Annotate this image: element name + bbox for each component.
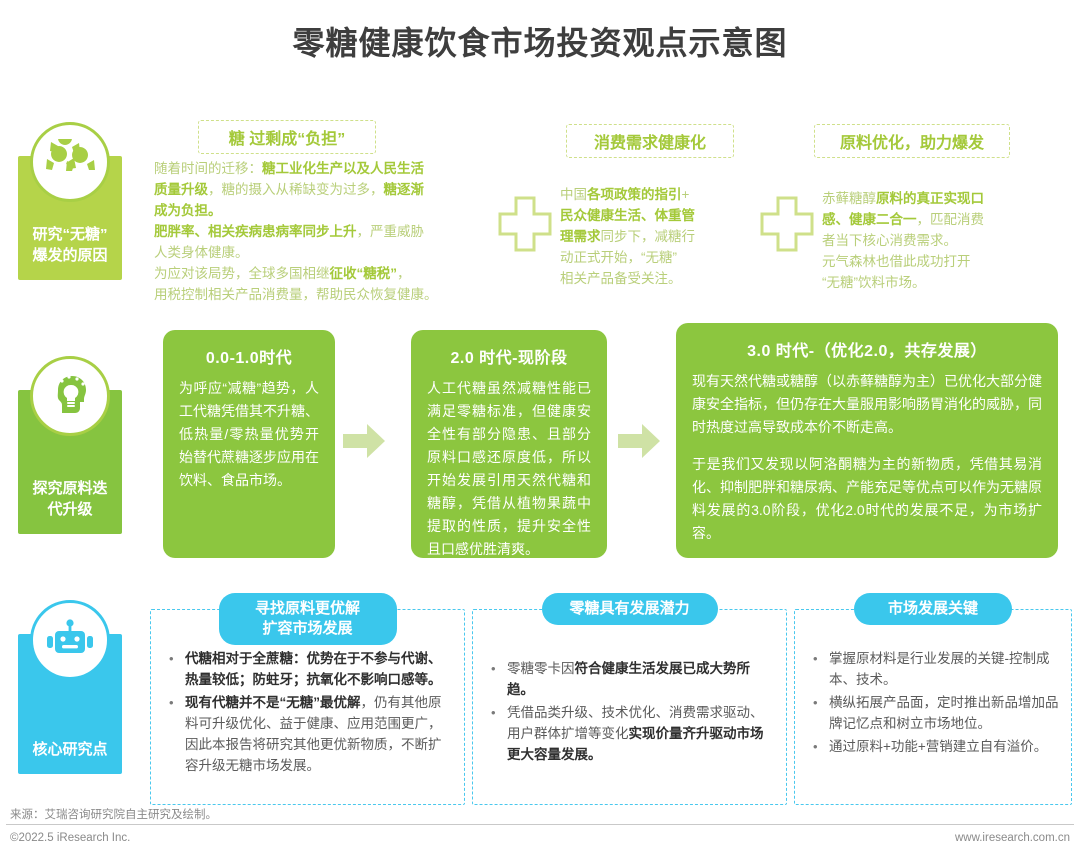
core-point-chip-3: 市场发展关键: [854, 593, 1012, 625]
body-text: ，严重威胁: [357, 224, 425, 239]
row1-chip-sugar-burden: 糖 过剩成“负担”: [198, 120, 376, 154]
bullet-dot-icon: •: [165, 692, 185, 776]
row-label-text: 研究“无糖” 爆发的原因: [32, 224, 107, 266]
emphasis-text: 糖工业化生产以及人民生活: [262, 161, 424, 176]
body-text: 随着时间的迁移：: [154, 161, 262, 176]
core-point-box-3: 市场发展关键 •掌握原材料是行业发展的关键-控制成本、技术。•横纵拓展产品面，定…: [794, 609, 1072, 805]
core-point-chip-2: 零糖具有发展潜力: [542, 593, 718, 625]
stage-card-text-1: 现有天然代糖或糖醇（以赤藓糖醇为主）已优化大部分健康安全指标，但仍存在大量服用影…: [692, 370, 1042, 439]
list-item-text: 横纵拓展产品面，定时推出新品增加品牌记忆点和树立市场地位。: [829, 692, 1059, 734]
stage-card-3: 3.0 时代-（优化2.0，共存发展） 现有天然代糖或糖醇（以赤藓糖醇为主）已优…: [676, 323, 1058, 558]
row1-line: 肥胖率、相关疾病患病率同步上升，严重威胁: [154, 221, 526, 242]
list-item: •现有代糖并不是“无糖”最优解，仍有其他原料可升级优化、益于健康、应用范围更广，…: [165, 692, 452, 776]
row1-line: 动正式开始，“无糖”: [560, 247, 756, 268]
body-text: 元气森林也借此成功打开: [822, 254, 971, 269]
row-label-core-research: 核心研究点: [18, 634, 122, 774]
stage-card-text: 人工代糖虽然减糖性能已满足零糖标准，但健康安全性有部分隐患、且部分原料口感还原度…: [427, 377, 591, 561]
emphasis-text: 各项政策的指引: [587, 187, 682, 202]
arrow-right-icon: [618, 424, 660, 458]
infographic-page: 零糖健康饮食市场投资观点示意图 研究“无糖” 爆发的原因 糖 过剩成“负担”: [0, 0, 1080, 856]
bullet-dot-icon: •: [487, 702, 507, 765]
list-item: •掌握原材料是行业发展的关键-控制成本、技术。: [809, 648, 1059, 690]
body-text: ，糖的摄入从稀缺变为过多，: [208, 182, 384, 197]
stage-card-text: 为呼应“减糖”趋势，人工代糖凭借其不升糖、低热量/零热量优势开始替代蔗糖逐步应用…: [179, 377, 319, 492]
row1-line: 为应对该局势，全球多国相继征收“糖税”，: [154, 263, 526, 284]
row1-line: 理需求同步下，减糖行: [560, 226, 756, 247]
row1-body-sugar-burden: 随着时间的迁移：糖工业化生产以及人民生活质量升级，糖的摄入从稀缺变为过多，糖逐渐…: [154, 158, 526, 305]
stage-card-2: 2.0 时代-现阶段 人工代糖虽然减糖性能已满足零糖标准，但健康安全性有部分隐患…: [411, 330, 607, 558]
page-title: 零糖健康饮食市场投资观点示意图: [0, 18, 1080, 64]
robot-icon: [30, 600, 110, 680]
row1-line: 相关产品备受关注。: [560, 268, 756, 289]
source-note: 来源：艾瑞咨询研究院自主研究及绘制。: [10, 806, 217, 822]
emphasis-text: 肥胖率、相关疾病患病率同步上升: [154, 224, 357, 239]
list-item: •通过原料+功能+营销建立自有溢价。: [809, 736, 1059, 757]
list-item: •横纵拓展产品面，定时推出新品增加品牌记忆点和树立市场地位。: [809, 692, 1059, 734]
body-text: 动正式开始，“无糖”: [560, 250, 677, 265]
emphasis-text: 理需求: [560, 229, 601, 244]
stage-card-title: 0.0-1.0时代: [179, 344, 319, 368]
row1-line: 元气森林也借此成功打开: [822, 251, 1036, 272]
list-item-text: 凭借品类升级、技术优化、消费需求驱动、用户群体扩增等变化实现价量齐升驱动市场更大…: [507, 702, 774, 765]
stage-card-title: 2.0 时代-现阶段: [427, 344, 591, 368]
stage-card-title: 3.0 时代-（优化2.0，共存发展）: [692, 337, 1042, 361]
body-text: ，匹配消费: [917, 212, 985, 227]
core-point-box-2: 零糖具有发展潜力 •零糖零卡因符合健康生活发展已成大势所趋。•凭借品类升级、技术…: [472, 609, 787, 805]
core-point-list-1: •代糖相对于全蔗糖：优势在于不参与代谢、热量较低；防蛀牙；抗氧化不影响口感等。•…: [165, 648, 452, 778]
body-text: 通过原料+功能+营销建立自有溢价。: [829, 739, 1047, 754]
core-point-chip-1: 寻找原料更优解 扩容市场发展: [219, 593, 397, 645]
list-item: •凭借品类升级、技术优化、消费需求驱动、用户群体扩增等变化实现价量齐升驱动市场更…: [487, 702, 774, 765]
candy-icon: [30, 122, 110, 202]
row1-line: 民众健康生活、体重管: [560, 205, 756, 226]
row-label-research-reason: 研究“无糖” 爆发的原因: [18, 156, 122, 280]
list-item: •代糖相对于全蔗糖：优势在于不参与代谢、热量较低；防蛀牙；抗氧化不影响口感等。: [165, 648, 452, 690]
row1-line: 质量升级，糖的摄入从稀缺变为过多，糖逐渐: [154, 179, 526, 200]
emphasis-text: 成为负担。: [154, 203, 222, 218]
list-item-text: 代糖相对于全蔗糖：优势在于不参与代谢、热量较低；防蛀牙；抗氧化不影响口感等。: [185, 648, 452, 690]
bullet-dot-icon: •: [165, 648, 185, 690]
list-item: •零糖零卡因符合健康生活发展已成大势所趋。: [487, 658, 774, 700]
row1-line: 赤藓糖醇原料的真正实现口: [822, 188, 1036, 209]
emphasis-text: 质量升级: [154, 182, 208, 197]
row-label-material-iteration: 探究原料迭 代升级: [18, 390, 122, 534]
row1-body-consumer-demand: 中国各项政策的指引+民众健康生活、体重管理需求同步下，减糖行动正式开始，“无糖”…: [560, 184, 756, 289]
stage-card-text-2: 于是我们又发现以阿洛酮糖为主的新物质，凭借其易消化、抑制肥胖和糖尿病、产能充足等…: [692, 453, 1042, 545]
row1-body-material-optimization: 赤藓糖醇原料的真正实现口感、健康二合一，匹配消费者当下核心消费需求。元气森林也借…: [822, 188, 1036, 293]
row1-line: 人类身体健康。: [154, 242, 526, 263]
row-label-text: 核心研究点: [32, 739, 107, 760]
core-point-box-1: 寻找原料更优解 扩容市场发展 •代糖相对于全蔗糖：优势在于不参与代谢、热量较低；…: [150, 609, 465, 805]
emphasis-text: 征收“糖税”: [330, 266, 398, 281]
emphasis-text: 现有代糖并不是“无糖”最优解: [185, 695, 361, 710]
body-text: ，: [397, 266, 411, 281]
list-item-text: 掌握原材料是行业发展的关键-控制成本、技术。: [829, 648, 1059, 690]
bullet-dot-icon: •: [487, 658, 507, 700]
core-point-list-3: •掌握原材料是行业发展的关键-控制成本、技术。•横纵拓展产品面，定时推出新品增加…: [809, 648, 1059, 759]
body-text: 相关产品备受关注。: [560, 271, 682, 286]
row1-line: “无糖”饮料市场。: [822, 272, 1036, 293]
website-link[interactable]: www.iresearch.com.cn: [955, 832, 1070, 844]
list-item-text: 通过原料+功能+营销建立自有溢价。: [829, 736, 1059, 757]
row1-line: 感、健康二合一，匹配消费: [822, 209, 1036, 230]
body-text: 同步下，减糖行: [601, 229, 696, 244]
row1-line: 成为负担。: [154, 200, 526, 221]
body-text: 赤藓糖醇: [822, 191, 876, 206]
list-item-text: 现有代糖并不是“无糖”最优解，仍有其他原料可升级优化、益于健康、应用范围更广，因…: [185, 692, 452, 776]
emphasis-text: 感、健康二合一: [822, 212, 917, 227]
row1-line: 者当下核心消费需求。: [822, 230, 1036, 251]
body-text: 零糖零卡因: [507, 661, 575, 676]
row1-chip-consumer-demand: 消费需求健康化: [566, 124, 734, 158]
footer-divider: [6, 824, 1074, 825]
bullet-dot-icon: •: [809, 648, 829, 690]
stage-card-0-1: 0.0-1.0时代 为呼应“减糖”趋势，人工代糖凭借其不升糖、低热量/零热量优势…: [163, 330, 335, 558]
row-label-text: 探究原料迭 代升级: [32, 478, 107, 520]
body-text: 中国: [560, 187, 587, 202]
emphasis-text: 原料的真正实现口: [876, 191, 984, 206]
emphasis-text: 糖逐渐: [384, 182, 425, 197]
row1-line: 用税控制相关产品消费量，帮助民众恢复健康。: [154, 284, 526, 305]
body-text: 掌握原材料是行业发展的关键-控制成本、技术。: [829, 651, 1050, 687]
body-text: 为应对该局势，全球多国相继: [154, 266, 330, 281]
copyright-text: ©2022.5 iResearch Inc.: [10, 832, 130, 844]
core-point-list-2: •零糖零卡因符合健康生活发展已成大势所趋。•凭借品类升级、技术优化、消费需求驱动…: [487, 658, 774, 767]
body-text: 用税控制相关产品消费量，帮助民众恢复健康。: [154, 287, 438, 302]
emphasis-text: 民众健康生活、体重管: [560, 208, 695, 223]
body-text: “无糖”饮料市场。: [822, 275, 926, 290]
row1-line: 随着时间的迁移：糖工业化生产以及人民生活: [154, 158, 526, 179]
arrow-right-icon: [343, 424, 385, 458]
body-text: 横纵拓展产品面，定时推出新品增加品牌记忆点和树立市场地位。: [829, 695, 1059, 731]
head-bulb-icon: [30, 356, 110, 436]
body-text: 人类身体健康。: [154, 245, 249, 260]
bullet-dot-icon: •: [809, 736, 829, 757]
body-text: +: [682, 187, 690, 202]
row1-chip-material-optimization: 原料优化，助力爆发: [814, 124, 1010, 158]
plus-icon: [498, 194, 552, 259]
plus-icon: [760, 194, 814, 259]
bullet-dot-icon: •: [809, 692, 829, 734]
row1-line: 中国各项政策的指引+: [560, 184, 756, 205]
emphasis-text: 代糖相对于全蔗糖：优势在于不参与代谢、热量较低；防蛀牙；抗氧化不影响口感等。: [185, 651, 442, 687]
body-text: 者当下核心消费需求。: [822, 233, 957, 248]
list-item-text: 零糖零卡因符合健康生活发展已成大势所趋。: [507, 658, 774, 700]
